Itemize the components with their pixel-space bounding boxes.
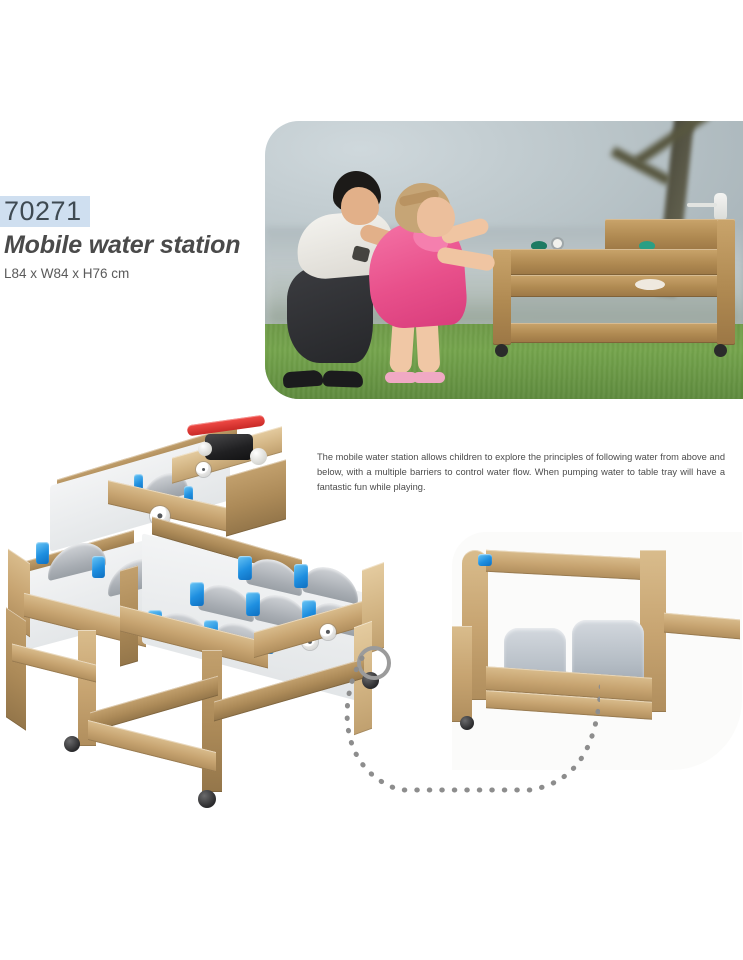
- photo-boy-shoe-left: [282, 370, 323, 389]
- photo-child-girl: [361, 159, 489, 381]
- photo-station-leg-left: [493, 249, 511, 345]
- render-main-barrier-clip-1: [238, 556, 252, 580]
- render-side-valve-dial: [320, 624, 336, 640]
- photo-station-top-box: [605, 219, 735, 251]
- render-pump-cap-left: [198, 442, 212, 456]
- render-pump-platform-dial: [196, 462, 211, 477]
- product-name: Mobile water station: [4, 232, 290, 260]
- product-sheet-page: 70271 Mobile water station L84 x W84 x H…: [0, 0, 743, 960]
- detail-callout-connector: [330, 650, 600, 820]
- photo-station-front-upper: [493, 249, 735, 275]
- render-lower-rail-center: [90, 676, 218, 733]
- product-dimensions: L84 x W84 x H76 cm: [4, 267, 290, 282]
- photo-station-front-lower: [493, 275, 735, 297]
- render-pump-cap-right: [250, 448, 267, 465]
- photo-girl-sandal-right: [413, 372, 445, 383]
- render-main-barrier-clip-3: [190, 582, 204, 606]
- product-sku-highlight: 70271: [0, 196, 90, 227]
- photo-boy-shoe-right: [323, 370, 364, 387]
- render-left-barrier-clip-1: [36, 542, 49, 564]
- render-main-barrier-clip-2: [294, 564, 308, 588]
- connector-dotted-path: [347, 658, 600, 790]
- photo-brand-plate: [635, 279, 665, 290]
- render-main-barrier-clip-4: [246, 592, 260, 616]
- render-pump-body: [205, 434, 253, 460]
- hero-product-photo: [265, 121, 743, 399]
- photo-station-knob: [553, 239, 562, 248]
- photo-water-station: [487, 219, 735, 369]
- render-leg-front-left: [6, 607, 26, 730]
- render-left-barrier-clip-2: [92, 556, 105, 578]
- photo-caster-left: [495, 344, 508, 357]
- photo-station-base-rail: [493, 323, 735, 343]
- photo-caster-right: [714, 344, 727, 357]
- render-caster-left: [64, 736, 80, 752]
- detail-top-rail: [486, 550, 646, 580]
- render-top-shelf-side-right: [226, 459, 286, 536]
- photo-girl-face: [417, 197, 455, 237]
- product-sku: 70271: [4, 197, 82, 225]
- render-lower-shelf-rail: [88, 720, 216, 772]
- detail-rail-right-extension: [664, 613, 740, 640]
- render-caster-front: [198, 790, 216, 808]
- photo-station-under-shelf: [511, 297, 717, 323]
- photo-faucet: [687, 191, 729, 221]
- product-title-block: 70271 Mobile water station L84 x W84 x H…: [0, 196, 290, 282]
- detail-blue-clip: [478, 554, 492, 566]
- product-description: The mobile water station allows children…: [317, 450, 725, 495]
- photo-station-leg-right: [717, 219, 735, 345]
